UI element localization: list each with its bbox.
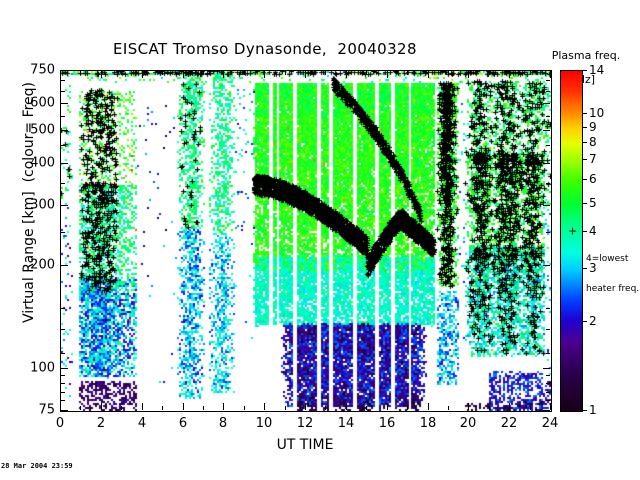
- y-tick-major: [543, 103, 550, 104]
- colorbar-note-line2: heater freq.: [586, 284, 639, 294]
- colorbar-tick: [582, 231, 587, 232]
- x-tick-major: [183, 403, 184, 410]
- x-tick-minor: [325, 71, 326, 75]
- colorbar-tick: [582, 410, 587, 411]
- y-tick-minor: [546, 383, 550, 384]
- x-tick-major: [183, 71, 184, 78]
- x-tick-major: [142, 71, 143, 78]
- colorbar-tick: [582, 321, 587, 322]
- x-tick-major: [305, 71, 306, 78]
- x-tick-minor: [203, 71, 204, 75]
- x-tick-minor: [366, 71, 367, 75]
- colorbar[interactable]: 1410987654321 4=lowest heater freq. +: [560, 70, 640, 415]
- x-tick-major: [60, 71, 61, 78]
- x-tick-minor: [448, 71, 449, 75]
- x-tick-label: 20: [460, 416, 477, 431]
- y-tick-minor: [546, 91, 550, 92]
- y-tick-minor: [61, 80, 65, 81]
- y-tick-minor: [546, 308, 550, 309]
- y-tick-minor: [61, 91, 65, 92]
- x-tick-label: 0: [56, 416, 64, 431]
- x-tick-minor: [121, 406, 122, 410]
- y-tick-major: [61, 130, 68, 131]
- colorbar-tick-label: 14: [589, 63, 604, 77]
- y-tick-minor: [61, 392, 65, 393]
- x-tick-major: [468, 403, 469, 410]
- x-tick-major: [264, 403, 265, 410]
- x-tick-major: [346, 403, 347, 410]
- y-tick-minor: [546, 353, 550, 354]
- colorbar-gradient: [560, 70, 583, 412]
- colorbar-tick-label: 10: [589, 106, 604, 120]
- y-tick-minor: [61, 183, 65, 184]
- colorbar-tick-label: 2: [589, 314, 597, 328]
- x-tick-minor: [489, 71, 490, 75]
- y-tick-major: [543, 368, 550, 369]
- colorbar-note-line1: 4=lowest: [586, 254, 639, 264]
- x-tick-major: [509, 403, 510, 410]
- colorbar-canvas: [561, 71, 582, 411]
- colorbar-tick: [582, 127, 587, 128]
- y-tick-minor: [61, 375, 65, 376]
- x-axis-title: UT TIME: [60, 437, 550, 453]
- x-tick-minor: [203, 406, 204, 410]
- y-tick-minor: [61, 383, 65, 384]
- footer-timestamp: 28 Mar 2004 23:59: [1, 462, 73, 470]
- x-tick-major: [428, 403, 429, 410]
- y-tick-minor: [546, 116, 550, 117]
- colorbar-tick: [582, 113, 587, 114]
- x-tick-minor: [244, 406, 245, 410]
- x-tick-major: [550, 403, 551, 410]
- x-tick-major: [468, 71, 469, 78]
- y-tick-minor: [546, 400, 550, 401]
- x-tick-major: [346, 71, 347, 78]
- y-tick-major: [61, 163, 68, 164]
- y-tick-major: [61, 410, 68, 411]
- x-tick-minor: [285, 406, 286, 410]
- colorbar-tick-label: 6: [589, 172, 597, 186]
- y-tick-minor: [61, 400, 65, 401]
- y-tick-major: [543, 130, 550, 131]
- x-tick-major: [387, 403, 388, 410]
- x-tick-minor: [407, 71, 408, 75]
- colorbar-tick: [582, 203, 587, 204]
- x-tick-major: [550, 71, 551, 78]
- colorbar-note: 4=lowest heater freq.: [586, 234, 639, 314]
- x-tick-minor: [121, 71, 122, 75]
- x-tick-major: [428, 71, 429, 78]
- colorbar-tick-label: 8: [589, 135, 597, 149]
- heater-freq-marker-icon: +: [568, 226, 577, 237]
- x-tick-minor: [162, 71, 163, 75]
- x-tick-major: [101, 403, 102, 410]
- x-tick-minor: [285, 71, 286, 75]
- x-tick-minor: [80, 406, 81, 410]
- x-tick-minor: [448, 406, 449, 410]
- x-tick-major: [101, 71, 102, 78]
- y-tick-major: [61, 368, 68, 369]
- y-tick-major: [61, 265, 68, 266]
- y-tick-minor: [546, 329, 550, 330]
- x-tick-minor: [489, 406, 490, 410]
- y-tick-major: [543, 410, 550, 411]
- x-tick-minor: [162, 406, 163, 410]
- y-tick-major: [61, 70, 68, 71]
- x-tick-major: [223, 403, 224, 410]
- y-tick-major: [543, 265, 550, 266]
- x-tick-label: 4: [138, 416, 146, 431]
- colorbar-tick: [582, 159, 587, 160]
- x-tick-label: 22: [501, 416, 518, 431]
- y-tick-minor: [546, 80, 550, 81]
- x-tick-major: [305, 403, 306, 410]
- ionogram-plot-page: EISCAT Tromso Dynasonde, 20040328 Plasma…: [0, 0, 640, 480]
- y-tick-minor: [61, 329, 65, 330]
- x-tick-minor: [407, 406, 408, 410]
- y-tick-major: [543, 163, 550, 164]
- x-tick-label: 24: [542, 416, 559, 431]
- x-tick-label: 2: [97, 416, 105, 431]
- x-tick-label: 16: [379, 416, 396, 431]
- colorbar-tick: [582, 70, 587, 71]
- x-tick-label: 18: [420, 416, 437, 431]
- x-tick-label: 14: [338, 416, 355, 431]
- colorbar-tick-label: 9: [589, 120, 597, 134]
- x-tick-label: 6: [179, 416, 187, 431]
- x-tick-major: [264, 71, 265, 78]
- x-tick-minor: [366, 406, 367, 410]
- colorbar-tick: [582, 179, 587, 180]
- y-tick-minor: [546, 183, 550, 184]
- x-tick-minor: [325, 406, 326, 410]
- colorbar-tick-label: 1: [589, 403, 597, 417]
- x-tick-major: [60, 403, 61, 410]
- y-tick-major: [61, 103, 68, 104]
- y-tick-minor: [546, 392, 550, 393]
- x-tick-minor: [80, 71, 81, 75]
- y-tick-minor: [61, 353, 65, 354]
- y-tick-minor: [61, 308, 65, 309]
- x-tick-label: 12: [297, 416, 314, 431]
- y-tick-minor: [61, 232, 65, 233]
- y-tick-minor: [546, 232, 550, 233]
- y-tick-minor: [546, 375, 550, 376]
- x-tick-major: [223, 71, 224, 78]
- y-axis-title: Virtual Range [km] (colour= Freq): [21, 93, 37, 323]
- x-tick-major: [509, 71, 510, 78]
- y-tick-minor: [61, 116, 65, 117]
- y-tick-major: [543, 205, 550, 206]
- x-tick-minor: [244, 71, 245, 75]
- x-tick-label: 8: [219, 416, 227, 431]
- x-tick-minor: [530, 71, 531, 75]
- y-tick-major: [61, 205, 68, 206]
- y-tick-minor: [546, 145, 550, 146]
- y-tick-minor: [61, 145, 65, 146]
- x-tick-label: 10: [256, 416, 273, 431]
- x-axis-labels: 024681012141618202224: [0, 0, 640, 480]
- x-tick-minor: [530, 406, 531, 410]
- x-tick-major: [387, 71, 388, 78]
- colorbar-tick: [582, 142, 587, 143]
- y-tick-major: [543, 70, 550, 71]
- x-tick-major: [142, 403, 143, 410]
- colorbar-tick-label: 7: [589, 152, 597, 166]
- colorbar-tick-label: 5: [589, 196, 597, 210]
